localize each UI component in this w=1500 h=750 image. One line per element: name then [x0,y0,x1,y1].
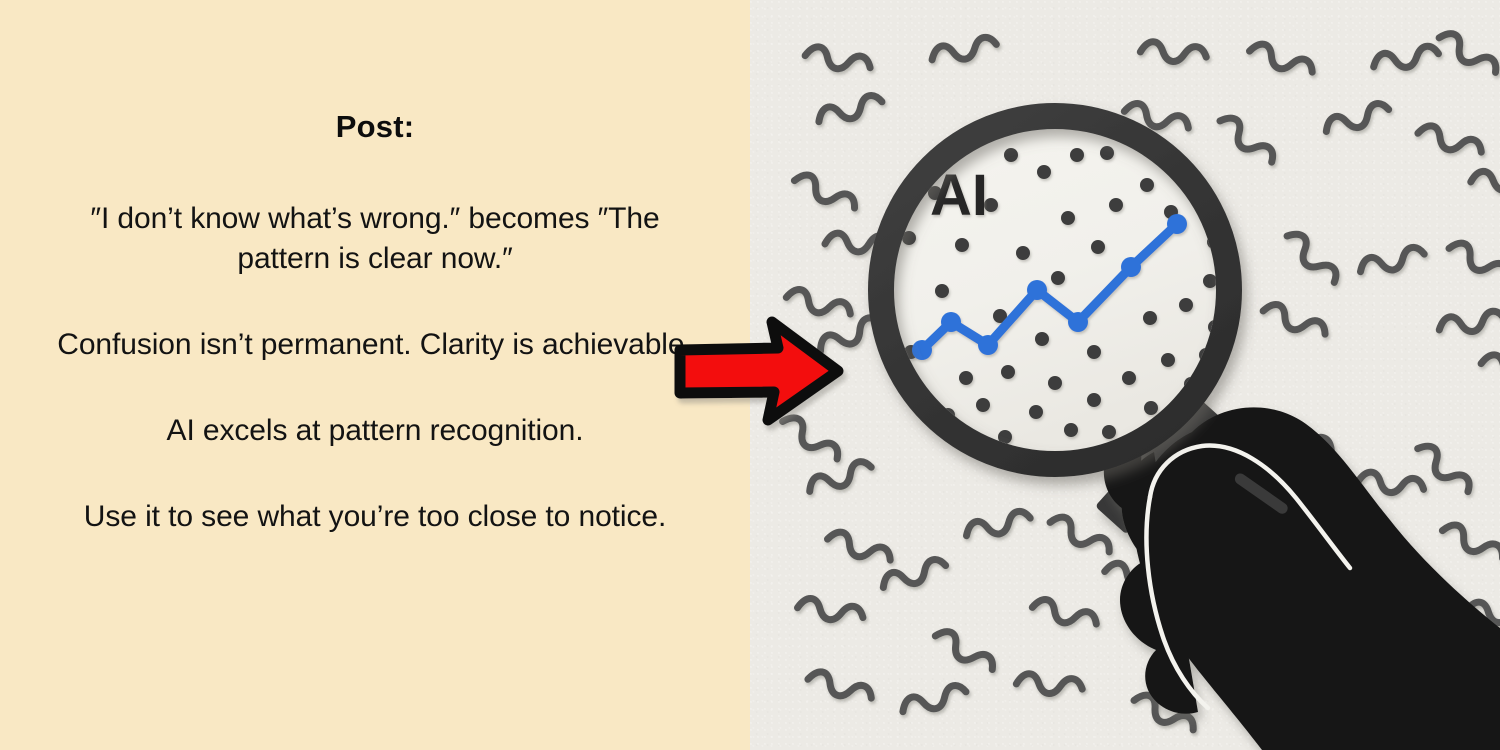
arrow-right-icon [680,322,838,420]
poster-canvas: Post: ″I don’t know what’s wrong.″ becom… [0,0,1500,750]
arrow-layer [0,0,1500,750]
